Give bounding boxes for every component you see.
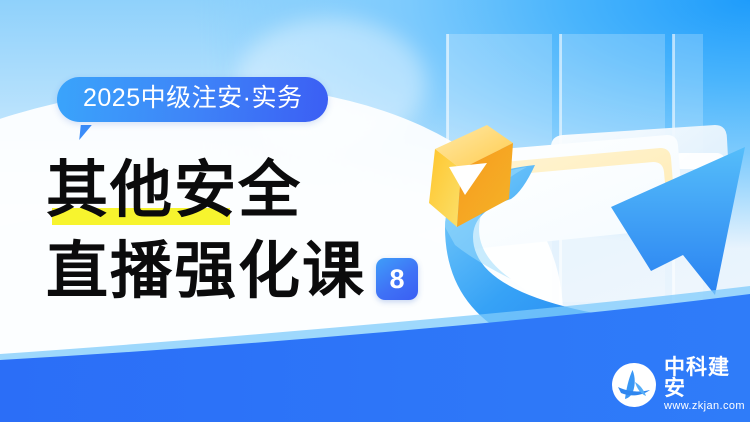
page-title: 其他安全 — [46, 159, 302, 221]
headline-group: 其他安全 直播强化课 8 — [46, 152, 466, 302]
brand-text: 中科建安 www.zkjan.com — [664, 357, 750, 412]
brand-url: www.zkjan.com — [664, 401, 750, 412]
brand-name: 中科建安 — [664, 357, 750, 399]
headline-row-1: 其他安全 — [46, 152, 466, 227]
brand-logo[interactable]: 中科建安 www.zkjan.com — [612, 357, 750, 412]
course-category-badge: 2025中级注安·实务 — [57, 77, 328, 122]
mountain-peak-icon — [612, 363, 656, 407]
course-banner: 2025中级注安·实务 其他安全 直播强化课 8 中科建安 www.zkjan.… — [0, 0, 750, 422]
pill-tail — [79, 125, 92, 140]
page-subtitle: 直播强化课 — [46, 240, 366, 302]
episode-badge: 8 — [376, 258, 418, 300]
headline-row-2: 直播强化课 8 — [46, 227, 466, 302]
